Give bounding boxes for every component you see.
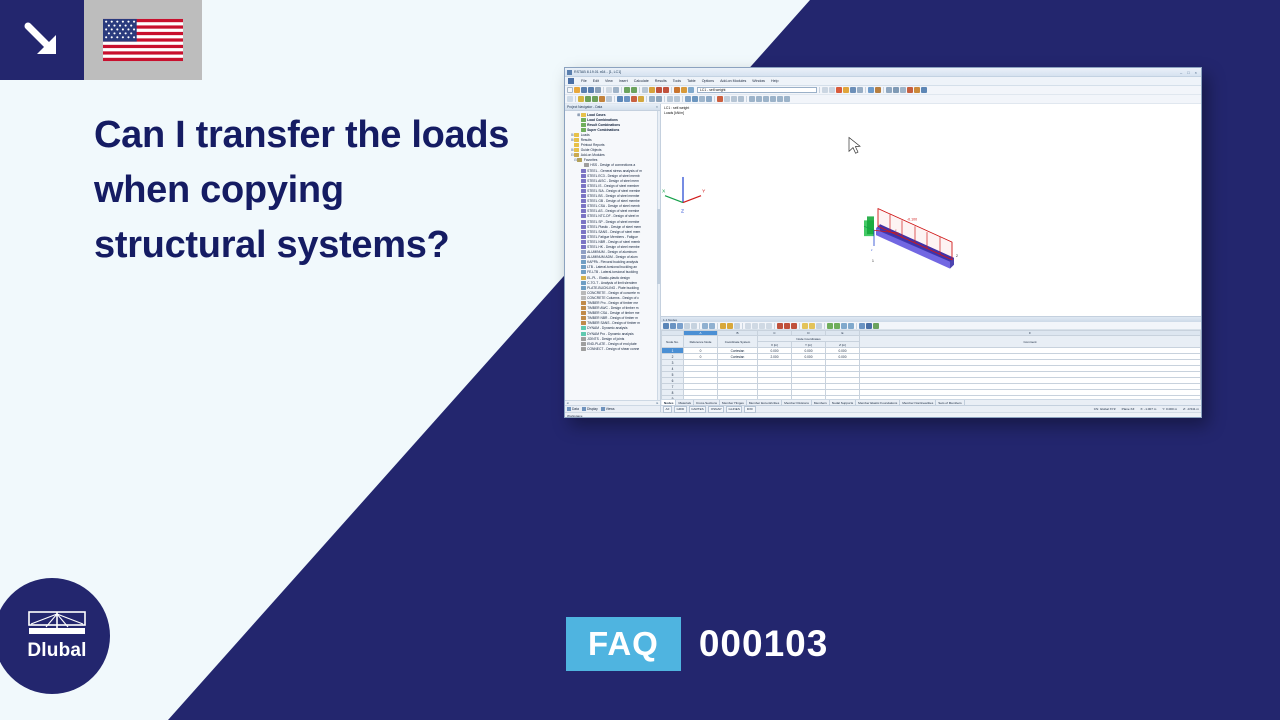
- navigator-tab-display-label: Display: [587, 407, 598, 411]
- svg-text:Y: Y: [702, 189, 706, 195]
- load-magnitude-label: -0.100: [907, 217, 917, 221]
- table-settings-icon[interactable]: [816, 323, 822, 329]
- toolbar-separator: [746, 96, 747, 102]
- display-props-icon[interactable]: [868, 87, 874, 93]
- mirror-icon[interactable]: [592, 96, 598, 102]
- tree-item-icon: [581, 209, 586, 213]
- rotate-view-icon[interactable]: [850, 87, 856, 93]
- project-navigator: Project Navigator - Data × ⊞Load CasesLo…: [565, 104, 661, 412]
- tree-item-icon: [581, 276, 586, 280]
- tree-item-icon: [581, 184, 586, 188]
- zoom-all-icon[interactable]: [843, 87, 849, 93]
- tree-item-icon: [574, 143, 579, 147]
- navigator-tab-views[interactable]: Views: [601, 407, 615, 411]
- table-edit-icon[interactable]: [670, 323, 676, 329]
- new-file-icon[interactable]: [567, 87, 573, 93]
- table-cell-comment[interactable]: [860, 396, 1201, 400]
- table-plus-icon[interactable]: [784, 323, 790, 329]
- display-icon: [582, 407, 586, 411]
- maximize-icon[interactable]: □: [1187, 70, 1189, 75]
- table-paste-icon[interactable]: [727, 323, 733, 329]
- grid-snap-icon[interactable]: [724, 96, 730, 102]
- status-toggle-dxf[interactable]: DXF: [744, 406, 755, 413]
- tree-item-label: STEEL GB - Design of steel membe: [587, 199, 640, 203]
- navigator-tab-display[interactable]: Display: [582, 407, 598, 411]
- structural-model-graphic[interactable]: Z X Y: [661, 104, 1201, 316]
- rotate-icon[interactable]: [585, 96, 591, 102]
- tree-item-icon: [581, 194, 586, 198]
- model-viewport[interactable]: LC1 : self-weight Loads [kN/m] Z X Y: [661, 104, 1201, 317]
- copy-icon[interactable]: [649, 87, 655, 93]
- tree-item-label: STEEL NTC-DF - Design of steel m: [587, 214, 639, 218]
- status-z-coordinate: Z: -0.541 m: [1183, 407, 1199, 411]
- table-panel: 1.1 Nodes: [661, 317, 1201, 405]
- views-icon: [601, 407, 605, 411]
- table-row[interactable]: 9: [662, 396, 1201, 400]
- result-values-icon[interactable]: [784, 96, 790, 102]
- app-icon: [567, 70, 572, 75]
- toolbar-separator: [883, 87, 884, 93]
- result-diagram-icon[interactable]: [777, 96, 783, 102]
- workspace-status: Workspace: [565, 412, 1201, 418]
- tree-item-label: STEEL Plastic - Design of steel mem: [587, 225, 641, 229]
- table-filter-icon[interactable]: [691, 323, 697, 329]
- toolbar-separator: [856, 323, 857, 329]
- close-icon[interactable]: ×: [1195, 70, 1197, 75]
- table-deselect-icon[interactable]: [684, 323, 690, 329]
- nodal-support-symbol: [864, 216, 874, 236]
- status-coordinate-system: CS: Global XYZ: [1094, 407, 1116, 411]
- tree-item-label: EL-PL - Elastic-plastic design: [587, 276, 630, 280]
- node-icon[interactable]: [617, 96, 623, 102]
- table-toolbar[interactable]: [661, 322, 1201, 330]
- table-import-icon[interactable]: [834, 323, 840, 329]
- tree-item-icon: [581, 342, 586, 346]
- data-icon: [567, 407, 571, 411]
- section-icon[interactable]: [886, 87, 892, 93]
- table-header-cell: Reference Node: [684, 336, 718, 348]
- svg-text:Z: Z: [681, 208, 684, 214]
- menu-item-results[interactable]: Results: [655, 79, 667, 83]
- toolbar-separator: [646, 96, 647, 102]
- project-icon[interactable]: [606, 96, 612, 102]
- toolbar-separator: [671, 87, 672, 93]
- tree-item-label: STEEL SIA - Design of steel membe: [587, 189, 640, 193]
- menu-item-calculate[interactable]: Calculate: [634, 79, 649, 83]
- table-cell-z[interactable]: [826, 396, 860, 400]
- viewport-caption: LC1 : self-weight Loads [kN/m]: [664, 106, 689, 116]
- tree-item-icon: [574, 133, 579, 137]
- pan-icon[interactable]: [857, 87, 863, 93]
- tree-item-icon: [581, 270, 586, 274]
- toolbar-separator: [621, 87, 622, 93]
- navigator-header: Project Navigator - Data ×: [565, 104, 660, 111]
- print-icon[interactable]: [595, 87, 601, 93]
- toolbar-separator: [614, 96, 615, 102]
- deform-icon[interactable]: [749, 96, 755, 102]
- tree-item-label: Load Combinations: [587, 118, 618, 122]
- zoom-window-icon[interactable]: [836, 87, 842, 93]
- tree-item-label: STEEL AISC - Design of steel mem: [587, 179, 639, 183]
- tree-item-icon: [581, 260, 586, 264]
- surfaces-icon[interactable]: [893, 87, 899, 93]
- tree-item-label: TIMBER SANS - Design of timber m: [587, 321, 640, 325]
- tree-item-label: DYNAM - Dynamic analysis: [587, 326, 628, 330]
- tree-item-label: TIMBER AWC - Design of timber m: [587, 306, 638, 310]
- status-toggle-glines[interactable]: GLINES: [726, 406, 742, 413]
- select-objects-icon[interactable]: [567, 96, 573, 102]
- toolbar-separator: [639, 87, 640, 93]
- table-select-icon[interactable]: [677, 323, 683, 329]
- dlubal-logo[interactable]: Dlubal: [0, 578, 110, 694]
- menu-item-options[interactable]: Options: [702, 79, 714, 83]
- tree-item-icon: [581, 204, 586, 208]
- table-last-icon[interactable]: [766, 323, 772, 329]
- tree-item-icon: [577, 158, 582, 162]
- node-label-1: 1: [872, 259, 874, 263]
- navigator-tab-views-label: Views: [606, 407, 615, 411]
- tree-item-icon: [581, 306, 586, 310]
- hidden-lines-icon[interactable]: [706, 96, 712, 102]
- menu-item-view[interactable]: View: [605, 79, 613, 83]
- table-cell-y[interactable]: [792, 396, 826, 400]
- tree-item-icon: [581, 174, 586, 178]
- menu-item-window[interactable]: Window: [752, 79, 765, 83]
- tree-item-label: CONNECT - Design of shear conne: [587, 347, 639, 351]
- tree-item-label: STEEL NBR - Design of steel memb: [587, 240, 640, 244]
- mouse-cursor-icon: [849, 138, 860, 154]
- hinge-icon[interactable]: [638, 96, 644, 102]
- scrollbar-thumb[interactable]: [657, 209, 661, 284]
- toolbar-secondary[interactable]: [565, 95, 1201, 104]
- tree-item-icon: [581, 214, 586, 218]
- menu-item-file[interactable]: File: [581, 79, 587, 83]
- tree-item-label: Load Cases: [587, 113, 606, 117]
- us-flag-icon: [103, 14, 183, 66]
- toolbar-separator: [865, 87, 866, 93]
- bridge-truss-icon: [28, 611, 86, 637]
- table-header-cell: Comment: [860, 336, 1201, 348]
- delete-icon[interactable]: [663, 87, 669, 93]
- viewport-units-label: Loads [kN/m]: [664, 111, 689, 116]
- table-export-icon[interactable]: [827, 323, 833, 329]
- nodes-table[interactable]: ABCDEFNode No.Reference NodeCoordinate S…: [661, 330, 1201, 399]
- view-front-icon[interactable]: [667, 96, 673, 102]
- dimension-icon[interactable]: [649, 96, 655, 102]
- toolbar-separator: [717, 323, 718, 329]
- tree-item-icon: [581, 123, 586, 127]
- table-prev-icon[interactable]: [752, 323, 758, 329]
- tree-item-label: Printout Reports: [581, 143, 605, 147]
- rstab-application-window: RSTAB 8.19.01 x64 - [1, LC1] – □ × File …: [564, 67, 1202, 418]
- tree-item-icon: [581, 235, 586, 239]
- menu-item-insert[interactable]: Insert: [619, 79, 628, 83]
- text-icon[interactable]: [656, 96, 662, 102]
- tree-item-icon: [581, 230, 586, 234]
- window-title: RSTAB 8.19.01 x64 - [1, LC1]: [574, 70, 621, 74]
- tree-item-label: Add-on Modules: [581, 153, 605, 157]
- transparent-icon[interactable]: [699, 96, 705, 102]
- svg-text:X: X: [662, 189, 666, 195]
- status-bar: AF GRID CARTES OSNAP GLINES DXF CS: Glob…: [661, 405, 1201, 412]
- tree-item-icon: [581, 169, 586, 173]
- tree-item-icon: [584, 163, 589, 167]
- render-icon[interactable]: [681, 87, 687, 93]
- table-cell-no[interactable]: 9: [662, 396, 684, 400]
- table-new-icon[interactable]: [663, 323, 669, 329]
- tree-item-icon: [581, 128, 586, 132]
- window-titlebar: RSTAB 8.19.01 x64 - [1, LC1] – □ ×: [565, 68, 1201, 77]
- toolbar-separator: [699, 323, 700, 329]
- table-copy-icon[interactable]: [720, 323, 726, 329]
- tree-twisty-icon[interactable]: ⊞: [577, 113, 581, 117]
- tree-item-label: C-TO-T - Analysis of limit slendern: [587, 281, 637, 285]
- status-x-coordinate: X: -1.007 m: [1140, 407, 1156, 411]
- table-refresh-icon[interactable]: [734, 323, 740, 329]
- tree-item-icon: [574, 138, 579, 142]
- wireframe-icon[interactable]: [685, 96, 691, 102]
- tree-item-icon: [581, 326, 586, 330]
- members-icon[interactable]: [900, 87, 906, 93]
- toolbar-separator: [824, 323, 825, 329]
- tree-item-label: KAPPA - Flexural buckling analysis: [587, 260, 638, 264]
- color-by-icon[interactable]: [717, 96, 723, 102]
- paste-icon[interactable]: [656, 87, 662, 93]
- save-icon[interactable]: [581, 87, 587, 93]
- info-icon[interactable]: [921, 87, 927, 93]
- table-function-icon[interactable]: [866, 323, 872, 329]
- tree-item-label: STEEL IS - Design of steel member: [587, 184, 639, 188]
- calculate-icon[interactable]: [674, 87, 680, 93]
- table-minus-icon[interactable]: [791, 323, 797, 329]
- table-print-icon[interactable]: [841, 323, 847, 329]
- tree-item-label: Loads: [581, 133, 590, 137]
- tree-item-icon: [574, 148, 579, 152]
- status-y-coordinate: Y: 0.000 m: [1162, 407, 1177, 411]
- tree-item-icon: [581, 250, 586, 254]
- tree-item-icon: [581, 286, 586, 290]
- table-cell-system[interactable]: [718, 396, 758, 400]
- faq-label-group: FAQ 000103: [566, 617, 828, 671]
- table-insert-row-icon[interactable]: [702, 323, 708, 329]
- tree-item-label: STEEL CSA - Design of steel memb: [587, 204, 640, 208]
- language-flag-badge[interactable]: [84, 0, 202, 80]
- tree-item-icon: [581, 316, 586, 320]
- toolbar-separator: [682, 96, 683, 102]
- status-work-plane: Plane XZ: [1122, 407, 1135, 411]
- tree-item-label: Favorites: [584, 158, 598, 162]
- tree-item-label: TIMBER NBR - Design of timber m: [587, 316, 638, 320]
- tree-item-icon: [581, 301, 586, 305]
- table-grid-wrapper[interactable]: ABCDEFNode No.Reference NodeCoordinate S…: [661, 330, 1201, 399]
- tree-item-icon: [581, 347, 586, 351]
- down-right-arrow-icon: [21, 19, 63, 61]
- print-preview-icon[interactable]: [606, 87, 612, 93]
- tree-item-icon: [581, 291, 586, 295]
- open-file-icon[interactable]: [574, 87, 580, 93]
- toolbar-separator: [664, 96, 665, 102]
- tree-item-label: STEEL HK - Design of steel membe: [587, 245, 639, 249]
- table-view-icon[interactable]: [802, 323, 808, 329]
- table-add-icon[interactable]: [777, 323, 783, 329]
- tree-item-label: JOINTS - Design of joints: [587, 337, 624, 341]
- menu-item-help[interactable]: Help: [771, 79, 778, 83]
- tree-item-icon: [581, 199, 586, 203]
- tree-item-icon: [581, 220, 586, 224]
- table-cell-ref[interactable]: [684, 396, 718, 400]
- load-case-combobox[interactable]: LC1 - self-weight: [697, 87, 817, 94]
- navigator-tab-data[interactable]: Data: [567, 407, 579, 411]
- results-icon[interactable]: [688, 87, 694, 93]
- tree-item-label: Results: [581, 138, 592, 142]
- tree-item-label: Guide Objects: [581, 148, 602, 152]
- tree-item-icon: [581, 113, 586, 117]
- tree-item-icon: [581, 311, 586, 315]
- tree-item-label: STEEL - General stress analysis of m: [587, 169, 642, 173]
- stress-icon[interactable]: [763, 96, 769, 102]
- menu-item-table[interactable]: Table: [687, 79, 696, 83]
- save-all-icon[interactable]: [588, 87, 594, 93]
- table-next-icon[interactable]: [759, 323, 765, 329]
- main-body: Project Navigator - Data × ⊞Load CasesLo…: [565, 104, 1201, 412]
- tree-item-label: FE-LTB - Lateral-torsional buckling: [587, 270, 638, 274]
- supports-icon[interactable]: [907, 87, 913, 93]
- tree-item-label: STEEL SP - Design of steel membe: [587, 220, 639, 224]
- tree-item-label: DYNAM Pro - Dynamic analysis: [587, 332, 634, 336]
- toolbar-separator: [742, 323, 743, 329]
- navigator-tree[interactable]: ⊞Load CasesLoad CombinationsResult Combi…: [565, 111, 660, 400]
- status-toggle-osnap[interactable]: OSNAP: [708, 406, 724, 413]
- faq-number: 000103: [699, 623, 828, 665]
- tree-item-icon: [581, 332, 586, 336]
- numbering-icon[interactable]: [875, 87, 881, 93]
- table-layout-icon[interactable]: [809, 323, 815, 329]
- tree-item-label: HSS - Design of connections a: [590, 163, 635, 167]
- table-header-cell: Coordinate System: [718, 336, 758, 348]
- view-top-icon[interactable]: [674, 96, 680, 102]
- tree-item-label: ALUMINUM ADM - Design of alum: [587, 255, 638, 259]
- toolbar-primary[interactable]: LC1 - self-weight: [565, 86, 1201, 95]
- undo-icon[interactable]: [624, 87, 630, 93]
- navigator-close-icon[interactable]: ×: [656, 105, 658, 109]
- toolbar-separator: [799, 323, 800, 329]
- internal-forces-icon[interactable]: [756, 96, 762, 102]
- tree-item-icon: [574, 153, 579, 157]
- tree-item-icon: [581, 240, 586, 244]
- tree-item-label: CONCRETE Columns - Design of c: [587, 296, 639, 300]
- menu-item-edit[interactable]: Edit: [593, 79, 599, 83]
- svg-text:z: z: [871, 248, 873, 252]
- table-sort-icon[interactable]: [859, 323, 865, 329]
- ortho-icon[interactable]: [731, 96, 737, 102]
- window-controls[interactable]: – □ ×: [1180, 70, 1199, 75]
- menu-item-addon-modules[interactable]: Add-on Modules: [720, 79, 746, 83]
- navigator-tree-item[interactable]: CONNECT - Design of shear conne: [565, 346, 660, 351]
- next-case-icon[interactable]: [829, 87, 835, 93]
- toolbar-separator: [575, 96, 576, 102]
- tree-item-label: END-PLATE - Design of end plate: [587, 342, 637, 346]
- tree-item-label: PLATE-BUCKLING - Plate buckling: [587, 286, 639, 290]
- tree-item-icon: [581, 337, 586, 341]
- tree-item-label: STEEL Fatigue Members - Fatigue: [587, 235, 638, 239]
- solid-icon[interactable]: [692, 96, 698, 102]
- support-reactions-icon[interactable]: [770, 96, 776, 102]
- object-snap-icon[interactable]: [738, 96, 744, 102]
- status-coordinates: CS: Global XYZ Plane XZ X: -1.007 m Y: 0…: [1094, 407, 1199, 411]
- toolbar-separator: [714, 96, 715, 102]
- cut-icon[interactable]: [642, 87, 648, 93]
- menu-bar[interactable]: File Edit View Insert Calculate Results …: [565, 77, 1201, 86]
- tree-item-label: ALUMINUM - Design of aluminum: [587, 250, 637, 254]
- minimize-icon[interactable]: –: [1180, 70, 1182, 75]
- navigator-title: Project Navigator - Data: [567, 105, 602, 109]
- toolbar-separator: [603, 87, 604, 93]
- nodal-support-icon[interactable]: [631, 96, 637, 102]
- tree-item-label: Result Combinations: [587, 123, 620, 127]
- tree-item-label: STEEL SANS - Design of steel mem: [587, 230, 640, 234]
- toolbar-separator: [774, 323, 775, 329]
- arrow-badge: [0, 0, 84, 80]
- tree-item-icon: [581, 296, 586, 300]
- tree-item-label: TIMBER Pro - Design of timber me: [587, 301, 638, 305]
- status-toggle-af[interactable]: AF: [663, 406, 672, 413]
- table-report-icon[interactable]: [848, 323, 854, 329]
- menu-item-tools[interactable]: Tools: [673, 79, 681, 83]
- tree-item-label: CONCRETE - Design of concrete m: [587, 291, 640, 295]
- tree-item-label: Super Combinations: [587, 128, 619, 132]
- tree-item-label: LTB - Lateral-torsional buckling an: [587, 265, 637, 269]
- tree-item-label: STEEL EC3 - Design of steel memb: [587, 174, 639, 178]
- redo-icon[interactable]: [631, 87, 637, 93]
- table-first-icon[interactable]: [745, 323, 751, 329]
- tree-item-icon: [581, 118, 586, 122]
- tree-item-label: STEEL AS - Design of steel membe: [587, 209, 639, 213]
- tree-item-icon: [581, 321, 586, 325]
- tree-item-label: STEEL BS - Design of steel membe: [587, 194, 639, 198]
- move-icon[interactable]: [578, 96, 584, 102]
- tree-item-icon: [581, 225, 586, 229]
- faq-badge: FAQ: [566, 617, 681, 671]
- status-toggle-grid[interactable]: GRID: [674, 406, 687, 413]
- table-help-icon[interactable]: [873, 323, 879, 329]
- table-cell-x[interactable]: [758, 396, 792, 400]
- loads-icon[interactable]: [914, 87, 920, 93]
- tree-item-icon: [581, 255, 586, 259]
- tree-item-icon: [581, 245, 586, 249]
- tree-item-icon: [581, 265, 586, 269]
- work-area: LC1 : self-weight Loads [kN/m] Z X Y: [661, 104, 1201, 412]
- printout-report-icon[interactable]: [613, 87, 619, 93]
- tree-item-label: TIMBER CSA - Design of timber me: [587, 311, 639, 315]
- status-toggle-cartes[interactable]: CARTES: [689, 406, 707, 413]
- prev-case-icon[interactable]: [822, 87, 828, 93]
- navigator-vertical-scrollbar[interactable]: [657, 111, 661, 400]
- dlubal-logo-text: Dlubal: [27, 640, 86, 662]
- navigator-tabs[interactable]: Data Display Views: [565, 405, 660, 412]
- table-delete-row-icon[interactable]: [709, 323, 715, 329]
- document-icon: [568, 78, 574, 84]
- toolbar-separator: [819, 87, 820, 93]
- global-axis-triad: Z X Y: [662, 177, 706, 214]
- node-label-2: 2: [956, 254, 958, 258]
- tree-item-icon: [581, 281, 586, 285]
- tree-item-icon: [581, 179, 586, 183]
- member-icon[interactable]: [624, 96, 630, 102]
- table-header-cell: Node No.: [662, 336, 684, 348]
- navigator-tab-data-label: Data: [572, 407, 579, 411]
- page-title: Can I transfer the loads when copying st…: [94, 108, 524, 273]
- scale-icon[interactable]: [599, 96, 605, 102]
